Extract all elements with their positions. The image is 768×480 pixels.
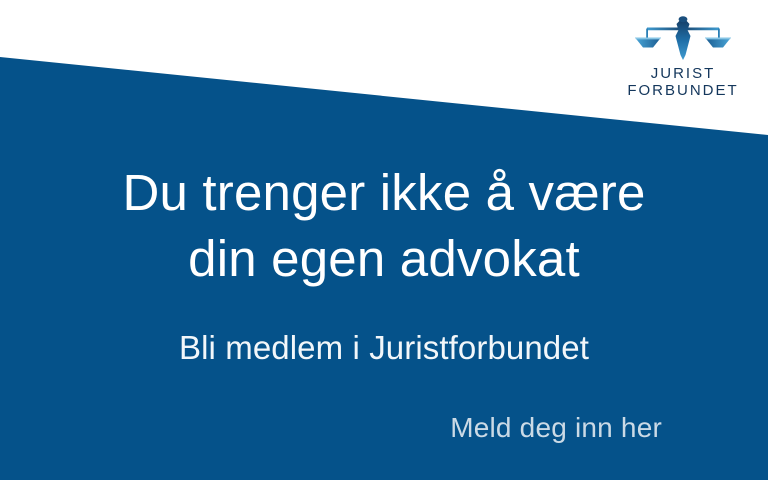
juristforbundet-logo[interactable]: JURIST FORBUNDET: [620, 14, 746, 100]
advertisement-banner: JURIST FORBUNDET Du trenger ikke å være …: [0, 0, 768, 480]
cta-link-join[interactable]: Meld deg inn her: [450, 410, 662, 446]
subheadline: Bli medlem i Juristforbundet: [0, 327, 768, 369]
scales-of-justice-icon: [633, 14, 733, 60]
logo-wordmark: JURIST FORBUNDET: [620, 66, 746, 100]
logo-wordmark-line2: FORBUNDET: [620, 83, 746, 100]
headline: Du trenger ikke å være din egen advokat: [0, 160, 768, 292]
headline-line-1: Du trenger ikke å være: [0, 160, 768, 226]
logo-wordmark-line1: JURIST: [620, 66, 746, 83]
headline-line-2: din egen advokat: [0, 226, 768, 292]
